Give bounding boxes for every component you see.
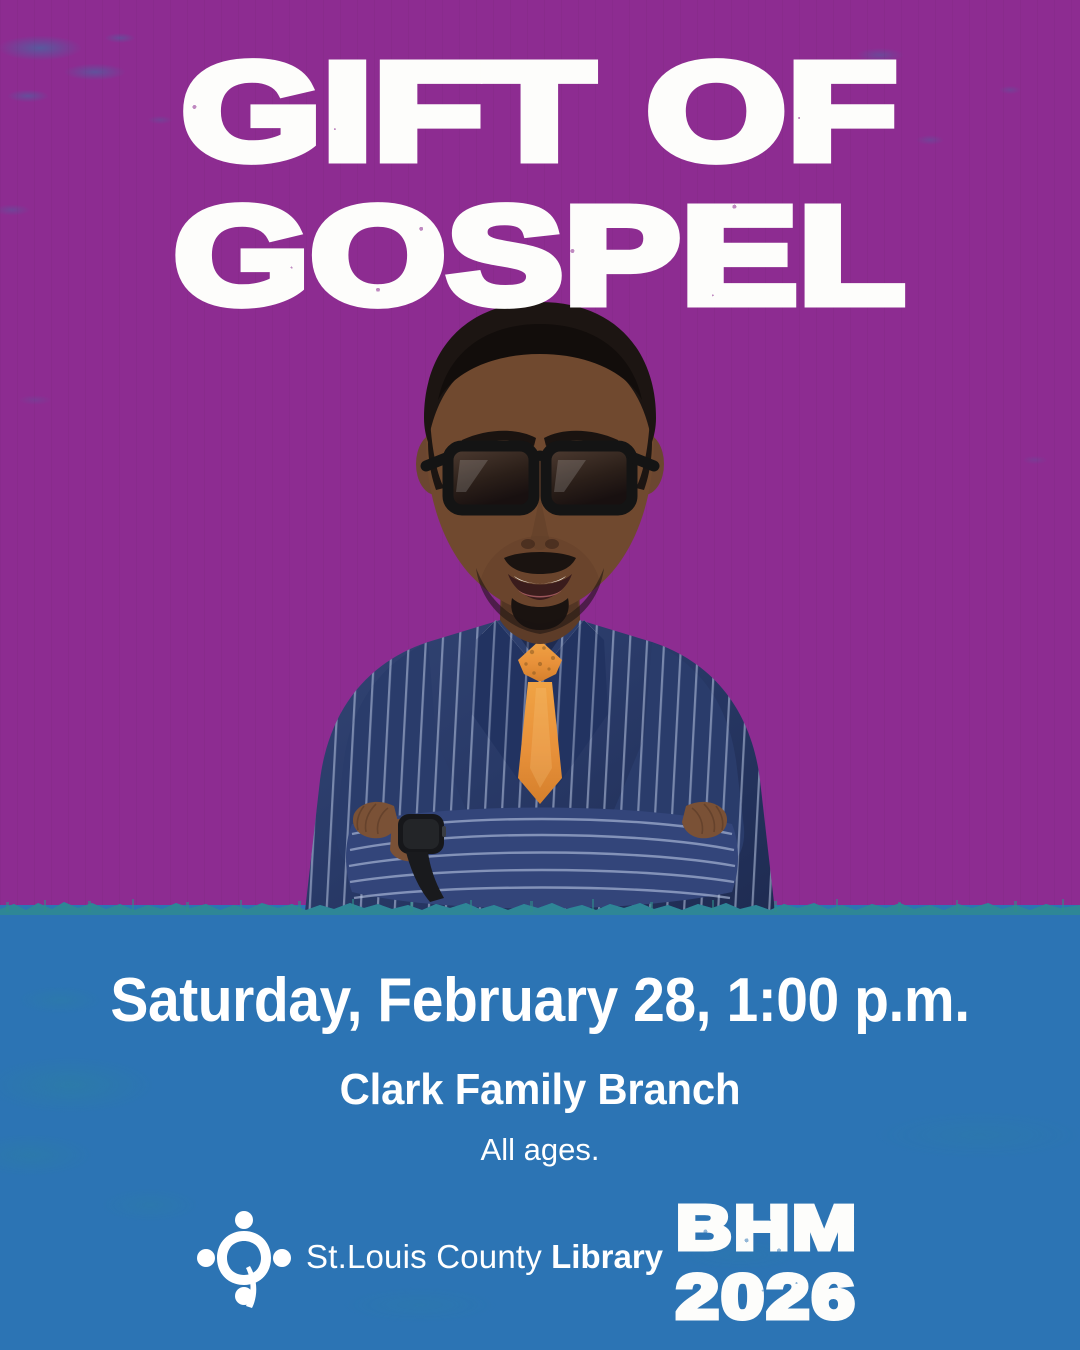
headline-line-2: GOSPEL <box>0 190 1080 322</box>
library-logo-wordmark: St.Louis County Library <box>306 1240 663 1277</box>
torn-edge-divider <box>0 896 1080 926</box>
footer: St.Louis County Library BHM 2026 <box>0 1196 1080 1326</box>
bhm-badge-line-2: 2026 <box>676 1269 859 1326</box>
head <box>424 302 656 634</box>
bhm-badge-line-1: BHM <box>676 1200 859 1257</box>
event-audience: All ages. <box>0 1134 1080 1165</box>
event-date: Saturday, February 28, 1:00 p.m. <box>43 970 1037 1032</box>
bhm-badge: BHM 2026 <box>676 1200 823 1326</box>
headline: GIFT OF GOSPEL <box>0 46 1080 323</box>
event-venue: Clark Family Branch <box>27 1068 1053 1112</box>
speaker-portrait <box>240 268 840 920</box>
event-details: Saturday, February 28, 1:00 p.m. Clark F… <box>0 970 1080 1165</box>
logo-name-bold: Library <box>551 1238 663 1275</box>
headline-line-1: GIFT OF <box>0 46 1080 178</box>
pinwheel-people-icon <box>196 1204 292 1312</box>
logo-name-light: St.Louis County <box>306 1238 542 1275</box>
necktie <box>518 640 562 804</box>
library-logo-lockup: St.Louis County Library <box>196 1204 663 1312</box>
event-flyer: GIFT OF GOSPEL <box>0 0 1080 1350</box>
